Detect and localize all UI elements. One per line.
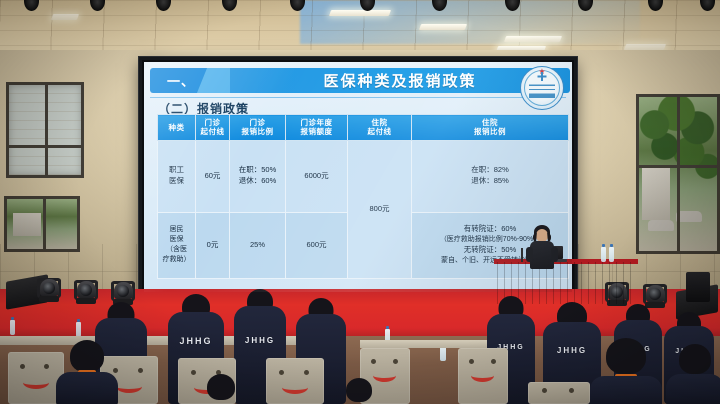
col-header-outpatient-annual-cap: 门诊年度 报销额度 — [286, 115, 348, 141]
cell-outpatient-ratio: 在职：50% 退休：60% — [230, 140, 286, 212]
left-window-with-blinds — [6, 82, 84, 178]
presentation-slide: 一、 医保种类及报销政策 （二）报销政策 ★ — [144, 62, 572, 292]
outside-building — [13, 213, 41, 236]
col-header-inpatient-ratio: 住院 报销比例 — [412, 115, 569, 141]
outside-building — [642, 168, 670, 220]
light-base — [645, 302, 665, 308]
chair-eye — [371, 359, 376, 364]
audience-member-front — [590, 344, 662, 404]
presenter — [527, 223, 557, 269]
slide-title: 医保种类及报销政策 — [323, 70, 476, 91]
stage-moving-head-light — [73, 274, 99, 304]
chair-eye — [393, 359, 398, 364]
chair-eye — [542, 388, 547, 393]
ceiling-light — [329, 10, 391, 16]
cell-outpatient-deductible: 0元 — [196, 212, 230, 278]
audience-head — [346, 378, 372, 402]
slide-title-bar: 医保种类及报销政策 — [230, 68, 570, 93]
chair-eye — [44, 364, 49, 369]
stage-moving-head-light — [642, 278, 668, 308]
audience-member-front — [56, 350, 118, 404]
chair-eye — [20, 364, 25, 369]
podium-microphone — [521, 248, 523, 262]
light-lens — [43, 282, 55, 294]
left-lower-window — [4, 196, 80, 252]
slide-header: 一、 医保种类及报销政策 — [150, 68, 570, 93]
line-array-speaker — [686, 272, 710, 302]
audience-jacket — [590, 376, 662, 404]
table-header-row: 种类 门诊 起付线 门诊 报销比例 门诊年度 报销额度 — [158, 115, 569, 141]
cell-inpatient-ratio: 在职：82% 退休：85% — [412, 140, 569, 212]
jacket-logo: JHHG — [245, 336, 275, 345]
audience-member-front — [196, 382, 246, 404]
audience-member-front — [336, 386, 382, 404]
table-row: 职工 医保 60元 在职：50% 退休：60% 6000元 800元 在职：82… — [158, 140, 569, 212]
cell-outpatient-annual-cap: 600元 — [286, 212, 348, 278]
smiley-chair — [528, 382, 590, 404]
light-lens — [117, 285, 129, 297]
chair-eye — [569, 388, 574, 393]
chair-smile-icon — [373, 369, 396, 382]
audience-member-front — [666, 352, 720, 404]
chair-eye — [191, 370, 196, 375]
right-window — [636, 94, 720, 254]
outside-vehicle — [676, 211, 702, 222]
chair-eye — [491, 359, 496, 364]
light-base — [76, 298, 96, 304]
ceiling-light — [419, 24, 467, 30]
cell-inpatient-deductible-merged: 800元 — [348, 140, 412, 278]
chair-smile-icon — [116, 380, 142, 393]
chair-eye — [304, 370, 309, 375]
presenter-arm-right — [551, 247, 558, 262]
audience-head — [70, 340, 104, 372]
window-mullion — [9, 145, 81, 148]
light-base — [39, 296, 59, 302]
water-bottle — [76, 322, 81, 337]
window-mullion — [677, 97, 680, 251]
audience-jacket — [666, 374, 720, 404]
jacket-logo: JHHG — [179, 336, 212, 346]
chair-eye — [138, 368, 143, 373]
chair-eye — [279, 370, 284, 375]
water-bottle — [609, 247, 614, 262]
light-lens — [80, 284, 92, 296]
chair-smile-icon — [23, 376, 49, 389]
cell-outpatient-annual-cap: 6000元 — [286, 140, 348, 212]
reimbursement-policy-table: 种类 门诊 起付线 门诊 报销比例 门诊年度 报销额度 — [157, 114, 569, 279]
window-mullion — [639, 165, 717, 168]
cell-type: 居民 医保 （含医 疗救助） — [158, 212, 196, 278]
cell-outpatient-ratio: 25% — [230, 212, 286, 278]
col-header-outpatient-deductible: 门诊 起付线 — [196, 115, 230, 141]
smiley-chair — [458, 348, 508, 404]
outside-vehicle — [648, 220, 674, 231]
audience-jacket — [56, 372, 118, 404]
water-bottle — [601, 247, 606, 262]
jacket-logo: JHHG — [557, 346, 587, 355]
audience-head — [679, 344, 711, 374]
cell-outpatient-deductible: 60元 — [196, 140, 230, 212]
audience-head — [207, 374, 235, 400]
chair-smile-icon — [471, 369, 494, 382]
stage-moving-head-light — [110, 275, 136, 305]
cell-type: 职工 医保 — [158, 140, 196, 212]
audience-head — [606, 338, 646, 374]
presenter-arm-left — [526, 247, 533, 262]
col-header-outpatient-ratio: 门诊 报销比例 — [230, 115, 286, 141]
ceiling-light — [51, 14, 79, 20]
slide-header-rule — [150, 97, 566, 98]
chair-smile-icon — [282, 381, 308, 394]
light-lens — [649, 288, 661, 300]
window-mullion — [45, 85, 48, 175]
emblem-inner-mark — [529, 77, 555, 99]
col-header-inpatient-deductible: 住院 起付线 — [348, 115, 412, 141]
stage-moving-head-light — [36, 272, 62, 302]
conference-hall-photo: 一、 医保种类及报销政策 （二）报销政策 ★ — [0, 0, 720, 404]
smiley-chair — [266, 358, 324, 404]
water-bottle — [10, 320, 15, 335]
ceiling-light — [504, 36, 562, 42]
col-header-type: 种类 — [158, 115, 196, 141]
chair-eye — [469, 359, 474, 364]
medical-insurance-emblem-icon: ★ — [520, 66, 564, 110]
window-mullion — [43, 199, 46, 249]
